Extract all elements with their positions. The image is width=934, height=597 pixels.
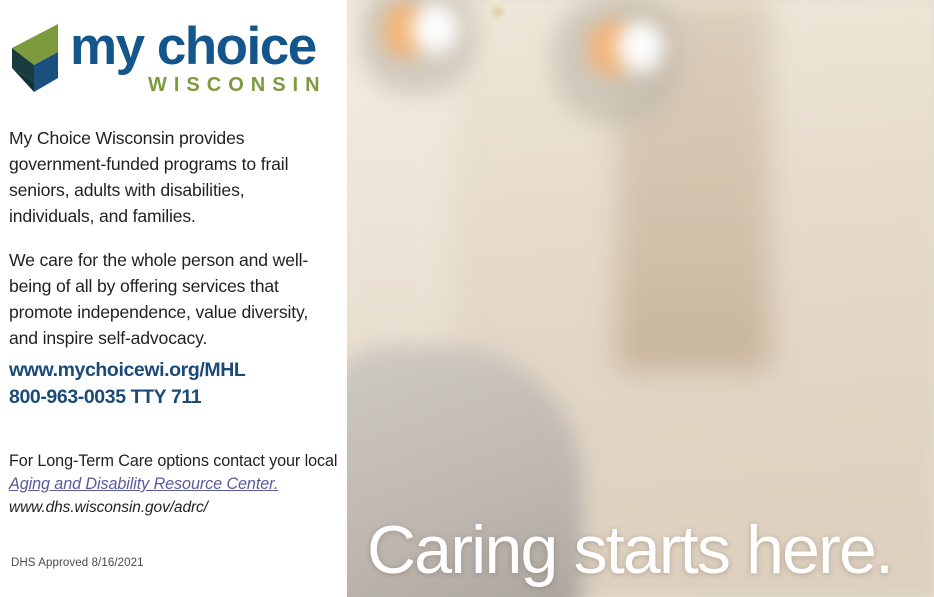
info-panel: my choice WISCONSIN My Choice Wisconsin …: [0, 0, 347, 597]
hero-photo: Caring starts here.: [347, 0, 934, 597]
brand-name-secondary: WISCONSIN: [148, 74, 327, 96]
wedding-ring: [489, 0, 504, 17]
body-paragraph-2: We care for the whole person and well-be…: [9, 247, 331, 351]
contact-block: www.mychoicewi.org/MHL 800-963-0035 TTY …: [9, 357, 339, 411]
brand-name-primary: my choice: [70, 16, 316, 78]
chevron-logo-icon: [10, 22, 62, 94]
website-link[interactable]: www.mychoicewi.org/MHL: [9, 357, 339, 384]
photo-tagline: Caring starts here.: [367, 511, 892, 589]
brand-logo[interactable]: my choice WISCONSIN: [8, 18, 338, 98]
poster-root: my choice WISCONSIN My Choice Wisconsin …: [0, 0, 934, 597]
bokeh-cool-right-icon: [617, 21, 664, 75]
adrc-lead-text: For Long-Term Care options contact your …: [9, 452, 337, 470]
body-paragraph-1: My Choice Wisconsin provides government-…: [9, 125, 331, 229]
adrc-url[interactable]: www.dhs.wisconsin.gov/adrc/: [9, 496, 339, 520]
brand-wordmark: my choice WISCONSIN: [70, 18, 336, 98]
phone-number[interactable]: 800-963-0035 TTY 711: [9, 384, 339, 411]
adrc-block: For Long-Term Care options contact your …: [9, 450, 339, 520]
approval-footer: DHS Approved 8/16/2021: [11, 557, 144, 569]
adrc-link[interactable]: Aging and Disability Resource Center.: [9, 475, 278, 493]
body-copy: My Choice Wisconsin provides government-…: [9, 125, 331, 369]
adrc-sentence: For Long-Term Care options contact your …: [9, 450, 339, 496]
bokeh-cool-left-icon: [412, 3, 459, 57]
